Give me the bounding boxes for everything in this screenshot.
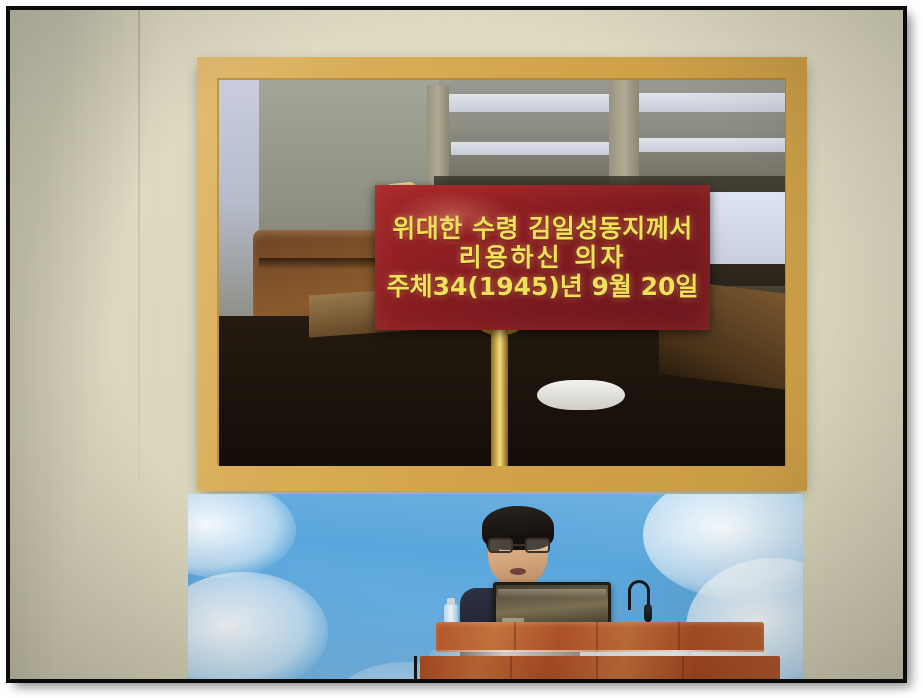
slide-white-plate xyxy=(537,380,625,410)
lens-right xyxy=(525,538,550,553)
slide-light-band xyxy=(449,94,609,112)
cloud xyxy=(188,572,328,679)
stanchion-post xyxy=(491,326,508,466)
cloud xyxy=(188,494,296,578)
speaker-mouth xyxy=(510,568,526,575)
eyeglasses-icon xyxy=(488,538,550,553)
podium xyxy=(420,622,780,679)
power-cable xyxy=(414,656,420,679)
photograph-frame: 위대한 수령 김일성동지께서 리용하신 의자 주체34(1945)년 9월 20… xyxy=(0,0,923,698)
lens-left xyxy=(488,538,513,553)
podium-seam xyxy=(678,622,680,652)
laptop-sheen xyxy=(498,589,606,598)
photograph: 위대한 수령 김일성동지께서 리용하신 의자 주체34(1945)년 9월 20… xyxy=(10,10,903,679)
lens-bridge xyxy=(513,544,525,546)
podium-seam xyxy=(596,656,598,679)
stage-backdrop xyxy=(188,494,803,679)
placard-glare xyxy=(393,191,513,237)
podium-base xyxy=(420,656,780,679)
slide-light-band xyxy=(451,142,609,155)
placard-line-3: 주체34(1945)년 9월 20일 xyxy=(387,273,699,300)
bottle-cap xyxy=(447,598,455,605)
podium-top xyxy=(436,622,764,652)
podium-seam xyxy=(514,622,516,652)
projection-screen-frame: 위대한 수령 김일성동지께서 리용하신 의자 주체34(1945)년 9월 20… xyxy=(197,57,807,491)
photo-black-border: 위대한 수령 김일성동지께서 리용하신 의자 주체34(1945)년 9월 20… xyxy=(6,6,907,683)
gooseneck-microphone xyxy=(620,580,658,622)
placard-line-2: 리용하신 의자 xyxy=(459,244,627,271)
podium-seam xyxy=(682,656,684,679)
red-placard: 위대한 수령 김일성동지께서 리용하신 의자 주체34(1945)년 9월 20… xyxy=(375,185,710,330)
slide-light-band xyxy=(639,138,785,152)
wall-seam xyxy=(138,10,140,480)
mic-capsule xyxy=(644,604,652,622)
podium-seam xyxy=(510,656,512,679)
podium-seam xyxy=(596,622,598,652)
projection-screen: 위대한 수령 김일성동지께서 리용하신 의자 주체34(1945)년 9월 20… xyxy=(219,80,785,466)
slide-light-band xyxy=(639,93,785,112)
